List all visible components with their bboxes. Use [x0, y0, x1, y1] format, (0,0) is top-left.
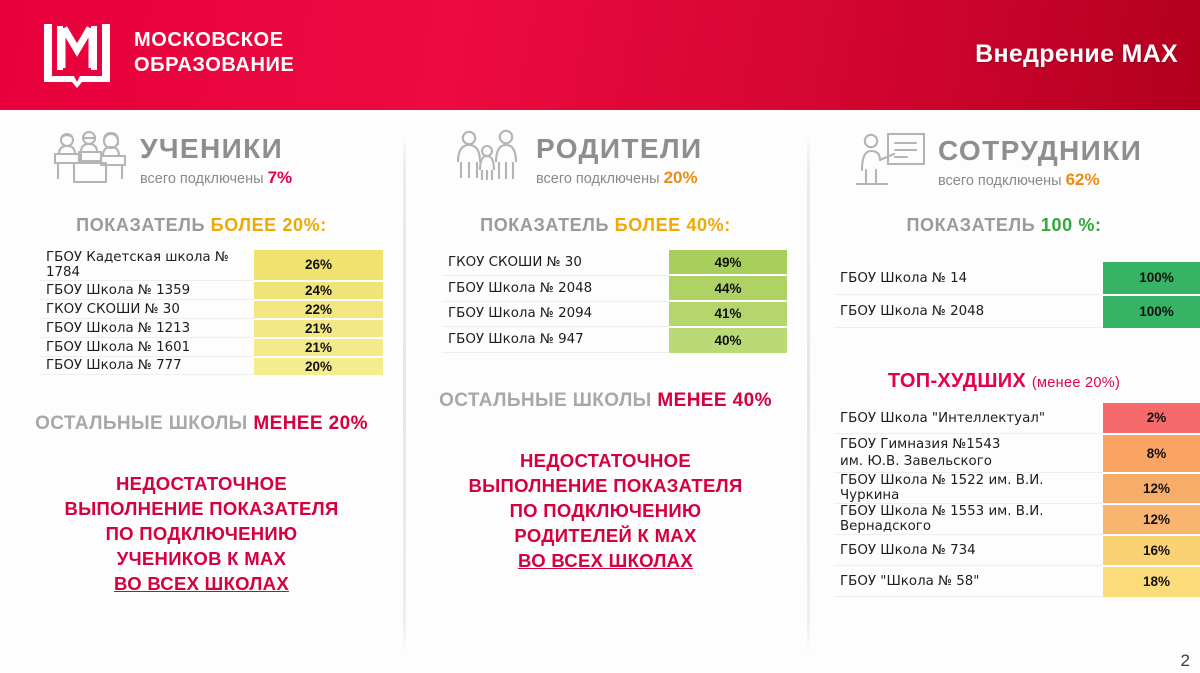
school-name: ГБОУ Школа № 2048: [442, 275, 669, 301]
table-row: ГКОУ СКОШИ № 30 22%: [40, 300, 383, 319]
table-row: ГБОУ Школа № 1522 им. В.И. Чуркина 12%: [834, 473, 1200, 504]
school-value: 100%: [1103, 295, 1200, 328]
school-value: 22%: [254, 300, 383, 319]
warning-line: РОДИТЕЛЕЙ К MAX: [404, 523, 807, 548]
school-name: ГБОУ Школа № 947: [442, 327, 669, 353]
students-header: УЧЕНИКИ всего подключены 7%: [52, 128, 403, 191]
brand-line-1: Московское: [134, 29, 284, 51]
parents-rest-value: МЕНЕЕ 40%: [657, 390, 771, 411]
school-name: ГБОУ Школа № 1359: [40, 281, 254, 300]
parents-rest-line: ОСТАЛЬНЫЕ ШКОЛЫ МЕНЕЕ 40%: [404, 390, 807, 412]
parents-metric: ПОКАЗАТЕЛЬ БОЛЕЕ 40%:: [404, 215, 807, 236]
students-title: УЧЕНИКИ: [140, 134, 292, 164]
warning-line: НЕДОСТАТОЧНОЕ: [404, 448, 807, 473]
students-metric: ПОКАЗАТЕЛЬ БОЛЕЕ 20%:: [0, 215, 403, 236]
warning-line: ПО ПОДКЛЮЧЕНИЮ: [404, 498, 807, 523]
parents-sub-value: 20%: [664, 168, 698, 187]
students-rest-prefix: ОСТАЛЬНЫЕ ШКОЛЫ: [35, 413, 248, 434]
table-row: ГБОУ Школа № 2094 41%: [442, 301, 787, 327]
worst-title-main: ТОП-ХУДШИХ: [888, 370, 1026, 392]
page-title: Внедрение MAX: [975, 40, 1178, 69]
students-head-text: УЧЕНИКИ всего подключены 7%: [140, 128, 292, 188]
table-row: ГБОУ Гимназия №1543 им. Ю.В. Завельского…: [834, 434, 1200, 473]
parents-metric-prefix: ПОКАЗАТЕЛЬ: [480, 215, 609, 235]
employees-metric: ПОКАЗАТЕЛЬ 100 %:: [808, 215, 1200, 236]
warning-line: УЧЕНИКОВ К MAX: [0, 546, 403, 571]
column-students: УЧЕНИКИ всего подключены 7% ПОКАЗАТЕЛЬ Б…: [0, 110, 403, 673]
slide-root: Московское Образование Внедрение MAX: [0, 0, 1200, 673]
table-row: ГБОУ Школа № 947 40%: [442, 327, 787, 353]
column-employees: СОТРУДНИКИ всего подключены 62% ПОКАЗАТЕ…: [808, 110, 1200, 673]
school-value: 12%: [1103, 504, 1200, 535]
parents-title: РОДИТЕЛИ: [536, 134, 703, 164]
parents-subtitle: всего подключены 20%: [536, 168, 703, 188]
parents-table: ГКОУ СКОШИ № 30 49% ГБОУ Школа № 2048 44…: [442, 250, 787, 353]
employees-sub-value: 62%: [1066, 170, 1100, 189]
school-value: 40%: [669, 327, 787, 353]
warning-line: ВЫПОЛНЕНИЕ ПОКАЗАТЕЛЯ: [404, 473, 807, 498]
worst-table: ГБОУ Школа "Интеллектуал" 2% ГБОУ Гимназ…: [834, 403, 1200, 597]
school-name: ГБОУ Школа № 1213: [40, 319, 254, 338]
school-value: 49%: [669, 250, 787, 275]
warning-line-underlined: ВО ВСЕХ ШКОЛАХ: [0, 571, 403, 596]
columns-area: УЧЕНИКИ всего подключены 7% ПОКАЗАТЕЛЬ Б…: [0, 110, 1200, 673]
table-row: ГБОУ Школа № 777 20%: [40, 357, 383, 375]
students-sub-label: всего подключены: [140, 171, 264, 187]
table-row: ГБОУ Школа № 1359 24%: [40, 281, 383, 300]
school-value: 20%: [254, 357, 383, 375]
school-name: ГБОУ Школа № 1601: [40, 338, 254, 357]
table-row: ГБОУ Школа "Интеллектуал" 2%: [834, 403, 1200, 434]
page-number: 2: [1181, 651, 1190, 671]
employees-metric-value: 100 %:: [1041, 215, 1102, 235]
employees-metric-prefix: ПОКАЗАТЕЛЬ: [906, 215, 1035, 235]
school-name: ГБОУ Школа № 14: [834, 262, 1103, 295]
school-value: 18%: [1103, 566, 1200, 597]
school-name: ГБОУ Школа "Интеллектуал": [834, 403, 1103, 434]
school-name: ГБОУ Школа № 1553 им. В.И. Вернадского: [834, 504, 1103, 535]
school-value: 41%: [669, 301, 787, 327]
students-metric-value: БОЛЕЕ 20%:: [211, 215, 327, 235]
teacher-at-board-icon: [854, 130, 928, 193]
students-subtitle: всего подключены 7%: [140, 168, 292, 188]
warning-line: НЕДОСТАТОЧНОЕ: [0, 471, 403, 496]
students-warning: НЕДОСТАТОЧНОЕ ВЫПОЛНЕНИЕ ПОКАЗАТЕЛЯ ПО П…: [0, 471, 403, 596]
parents-sub-label: всего подключены: [536, 171, 660, 187]
school-value: 100%: [1103, 262, 1200, 295]
parents-table-body: ГКОУ СКОШИ № 30 49% ГБОУ Школа № 2048 44…: [442, 250, 787, 353]
table-row: ГБОУ Школа № 14 100%: [834, 262, 1200, 295]
students-metric-prefix: ПОКАЗАТЕЛЬ: [76, 215, 205, 235]
school-name: ГКОУ СКОШИ № 30: [442, 250, 669, 275]
school-value: 16%: [1103, 535, 1200, 566]
school-name: ГБОУ Школа № 1522 им. В.И. Чуркина: [834, 473, 1103, 504]
table-row: ГБОУ Школа № 2048 100%: [834, 295, 1200, 328]
school-value: 2%: [1103, 403, 1200, 434]
employees-subtitle: всего подключены 62%: [938, 170, 1142, 190]
school-value: 44%: [669, 275, 787, 301]
school-value: 8%: [1103, 434, 1200, 473]
column-parents: РОДИТЕЛИ всего подключены 20% ПОКАЗАТЕЛЬ…: [404, 110, 807, 673]
table-row: ГБОУ Школа № 1601 21%: [40, 338, 383, 357]
open-book-m-logo-icon: [38, 16, 116, 90]
parents-warning: НЕДОСТАТОЧНОЕ ВЫПОЛНЕНИЕ ПОКАЗАТЕЛЯ ПО П…: [404, 448, 807, 573]
warning-line: ПО ПОДКЛЮЧЕНИЮ: [0, 521, 403, 546]
school-value: 21%: [254, 338, 383, 357]
employees-title: СОТРУДНИКИ: [938, 136, 1142, 166]
table-row: ГБОУ "Школа № 58" 18%: [834, 566, 1200, 597]
table-row: ГБОУ Кадетская школа № 1784 26%: [40, 250, 383, 281]
table-row: ГБОУ Школа № 2048 44%: [442, 275, 787, 301]
table-row: ГКОУ СКОШИ № 30 49%: [442, 250, 787, 275]
students-table: ГБОУ Кадетская школа № 1784 26% ГБОУ Шко…: [40, 250, 383, 375]
school-value: 21%: [254, 319, 383, 338]
brand-line-2: Образование: [134, 54, 294, 76]
employees-header: СОТРУДНИКИ всего подключены 62%: [854, 130, 1200, 193]
worst-section-title: ТОП-ХУДШИХ (менее 20%): [808, 370, 1200, 393]
students-rest-line: ОСТАЛЬНЫЕ ШКОЛЫ МЕНЕЕ 20%: [0, 413, 403, 435]
brand-logo: Московское Образование: [38, 16, 294, 90]
school-name: ГКОУ СКОШИ № 30: [40, 300, 254, 319]
school-name: ГБОУ Гимназия №1543 им. Ю.В. Завельского: [834, 434, 1103, 473]
warning-line: ВЫПОЛНЕНИЕ ПОКАЗАТЕЛЯ: [0, 496, 403, 521]
school-name: ГБОУ Школа № 777: [40, 357, 254, 375]
employees-top-table: ГБОУ Школа № 14 100% ГБОУ Школа № 2048 1…: [834, 262, 1200, 328]
school-name: ГБОУ Кадетская школа № 1784: [40, 250, 254, 281]
students-rest-value: МЕНЕЕ 20%: [253, 413, 367, 434]
parents-metric-value: БОЛЕЕ 40%:: [615, 215, 731, 235]
school-name: ГБОУ "Школа № 58": [834, 566, 1103, 597]
students-at-desks-icon: [52, 128, 128, 191]
parents-header: РОДИТЕЛИ всего подключены 20%: [452, 128, 807, 191]
table-row: ГБОУ Школа № 734 16%: [834, 535, 1200, 566]
table-row: ГБОУ Школа № 1553 им. В.И. Вернадского 1…: [834, 504, 1200, 535]
school-value: 24%: [254, 281, 383, 300]
school-name: ГБОУ Школа № 2094: [442, 301, 669, 327]
worst-title-note: (менее 20%): [1032, 375, 1120, 391]
employees-head-text: СОТРУДНИКИ всего подключены 62%: [938, 130, 1142, 190]
employees-top-body: ГБОУ Школа № 14 100% ГБОУ Школа № 2048 1…: [834, 262, 1200, 328]
employees-sub-label: всего подключены: [938, 173, 1062, 189]
school-name: ГБОУ Школа № 2048: [834, 295, 1103, 328]
slide-header: Московское Образование Внедрение MAX: [0, 0, 1200, 110]
students-sub-value: 7%: [268, 168, 293, 187]
parents-rest-prefix: ОСТАЛЬНЫЕ ШКОЛЫ: [439, 390, 652, 411]
warning-line-underlined: ВО ВСЕХ ШКОЛАХ: [404, 548, 807, 573]
brand-logo-text: Московское Образование: [134, 28, 294, 78]
school-name: ГБОУ Школа № 734: [834, 535, 1103, 566]
school-value: 12%: [1103, 473, 1200, 504]
students-table-body: ГБОУ Кадетская школа № 1784 26% ГБОУ Шко…: [40, 250, 383, 375]
table-row: ГБОУ Школа № 1213 21%: [40, 319, 383, 338]
family-parents-child-icon: [452, 128, 522, 191]
parents-head-text: РОДИТЕЛИ всего подключены 20%: [536, 128, 703, 188]
worst-table-body: ГБОУ Школа "Интеллектуал" 2% ГБОУ Гимназ…: [834, 403, 1200, 597]
school-value: 26%: [254, 250, 383, 281]
